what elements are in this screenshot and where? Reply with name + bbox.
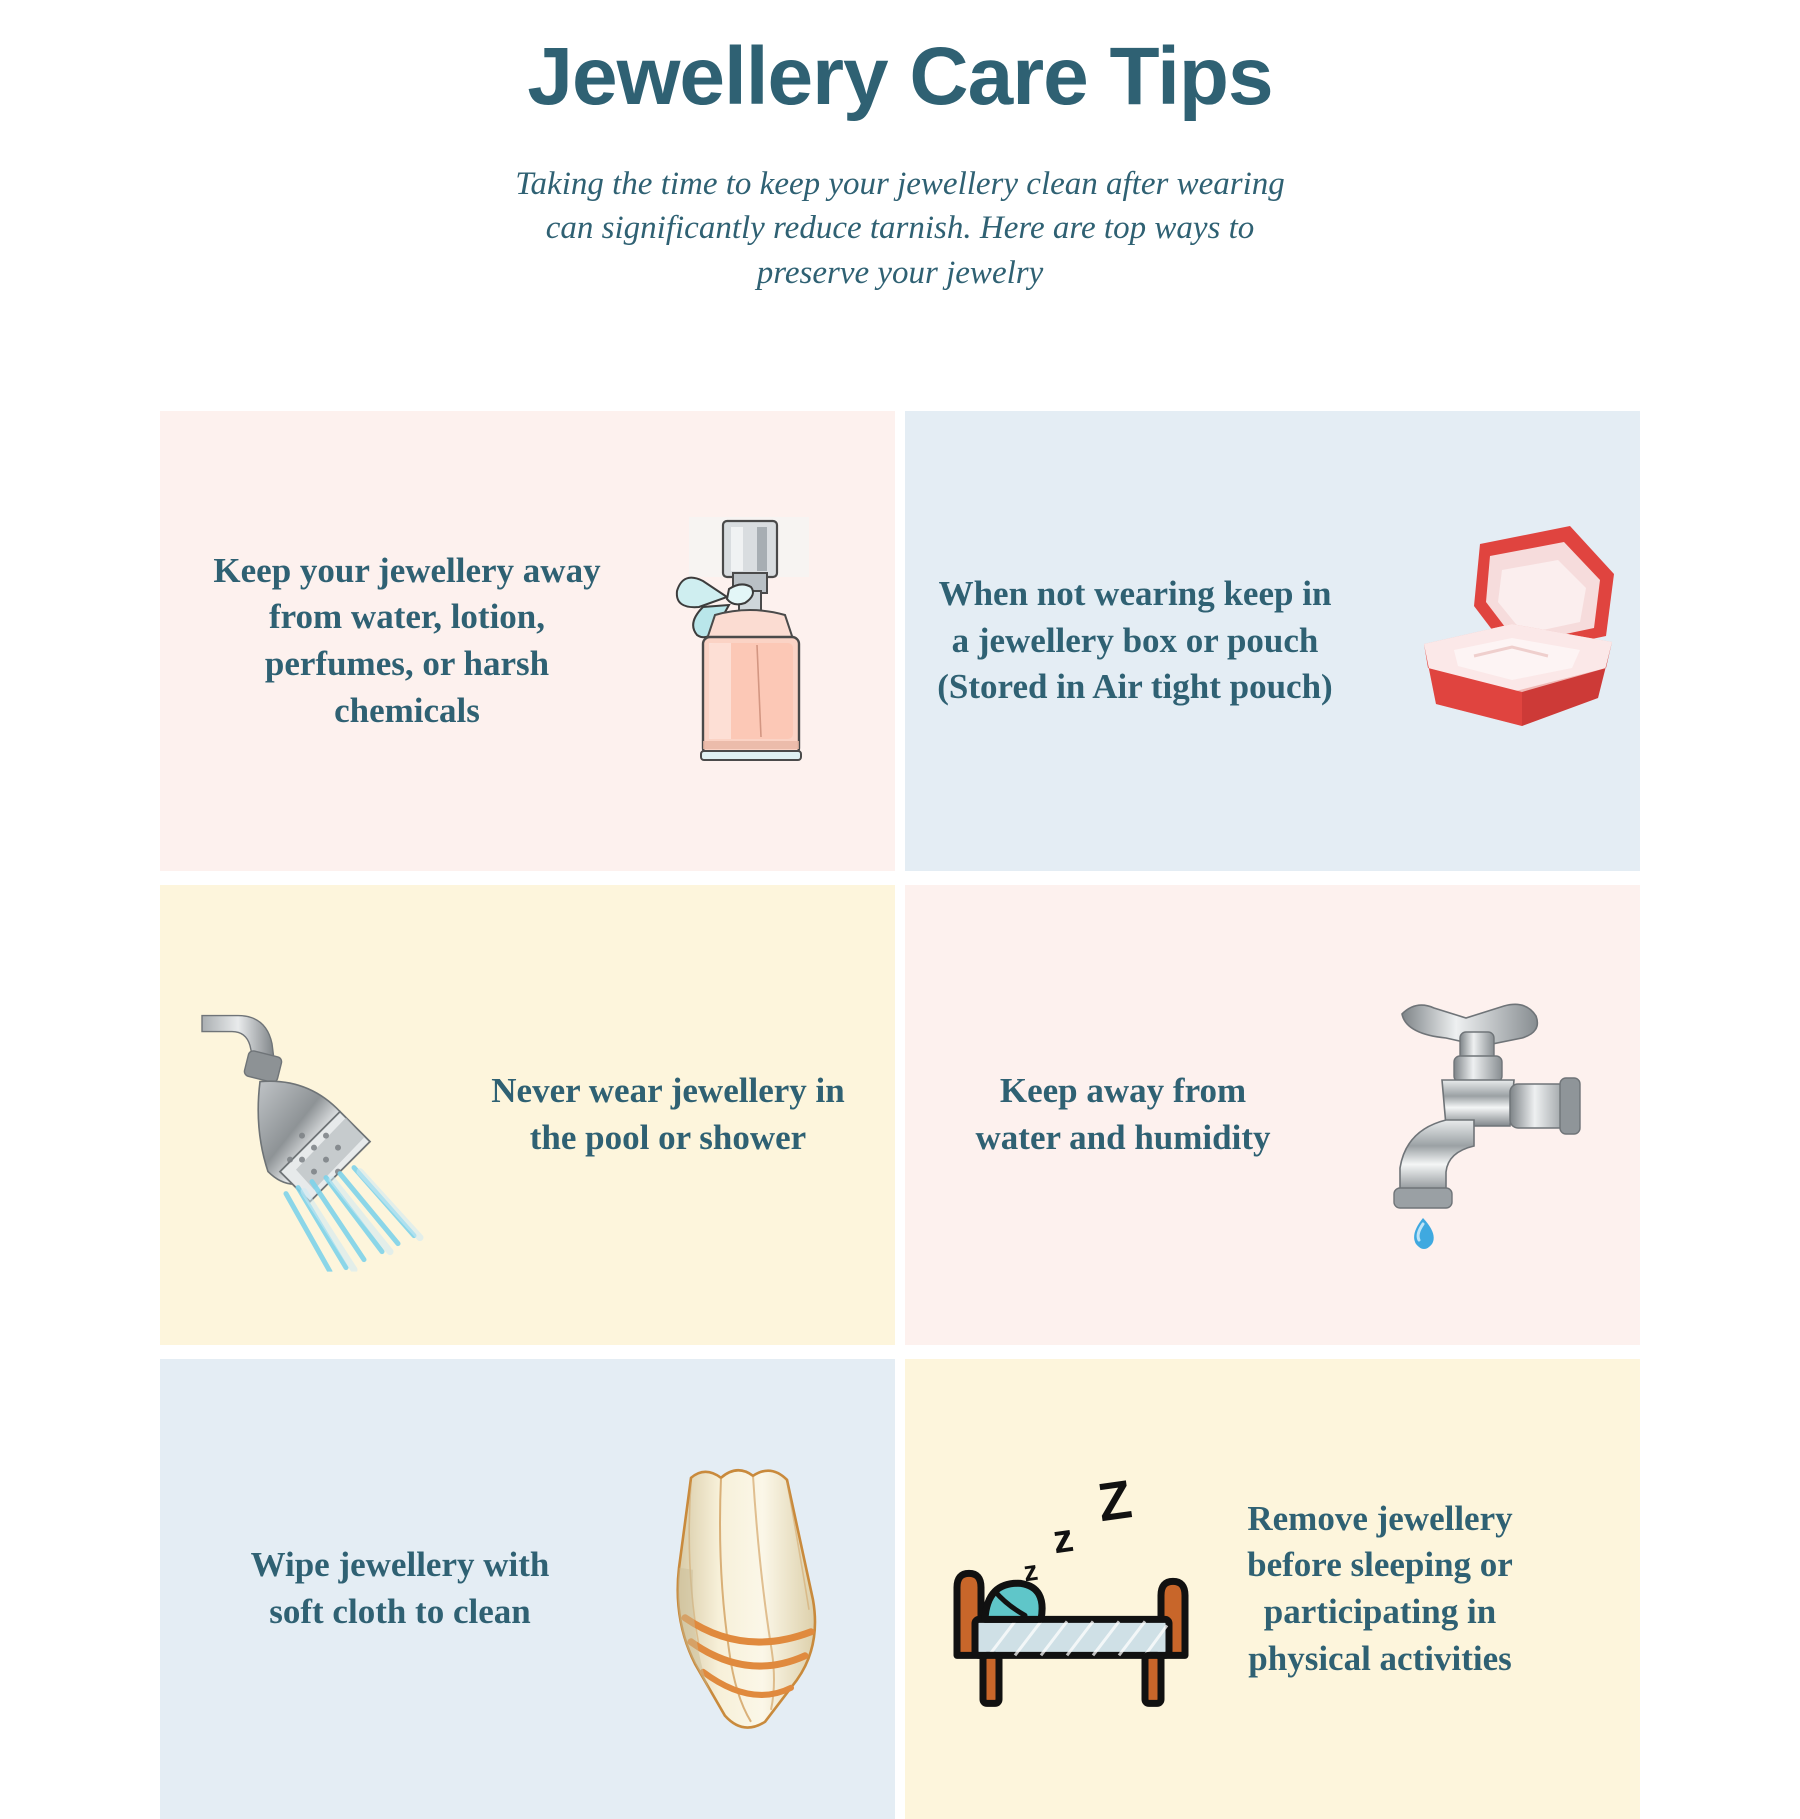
- page-subtitle: Taking the time to keep your jewellery c…: [505, 162, 1295, 295]
- bed-sleeping-icon: Z z z: [929, 1469, 1229, 1729]
- tip-card-6-text: Remove jewellery before sleeping or part…: [1225, 1496, 1535, 1682]
- shower-head-icon: [198, 1002, 448, 1272]
- tip-card-5-text: Wipe jewellery with soft cloth to clean: [220, 1542, 580, 1635]
- cleaning-cloth-icon: [625, 1450, 865, 1740]
- header: Jewellery Care Tips Taking the time to k…: [0, 0, 1800, 295]
- page-title: Jewellery Care Tips: [0, 34, 1800, 120]
- infographic-page: Jewellery Care Tips Taking the time to k…: [0, 0, 1800, 1800]
- tip-card-1[interactable]: Keep your jewellery away from water, lot…: [160, 411, 895, 871]
- perfume-bottle-icon: [645, 511, 855, 771]
- tip-card-1-text: Keep your jewellery away from water, lot…: [192, 548, 622, 734]
- tip-card-4-text: Keep away from water and humidity: [953, 1068, 1293, 1161]
- tip-card-3-text: Never wear jewellery in the pool or show…: [478, 1068, 858, 1161]
- tip-card-2[interactable]: When not wearing keep in a jewellery box…: [905, 411, 1640, 871]
- tip-card-3[interactable]: Never wear jewellery in the pool or show…: [160, 885, 895, 1345]
- water-tap-icon: [1354, 980, 1594, 1250]
- z-large: Z: [1094, 1469, 1135, 1533]
- tip-card-5[interactable]: Wipe jewellery with soft cloth to clean: [160, 1359, 895, 1819]
- tip-card-6[interactable]: Z z z: [905, 1359, 1640, 1819]
- tip-card-4[interactable]: Keep away from water and humidity: [905, 885, 1640, 1345]
- tip-card-2-text: When not wearing keep in a jewellery box…: [935, 571, 1335, 711]
- jewellery-box-icon: [1362, 516, 1622, 766]
- tips-grid: Keep your jewellery away from water, lot…: [160, 411, 1640, 1819]
- z-mid: z: [1050, 1516, 1076, 1562]
